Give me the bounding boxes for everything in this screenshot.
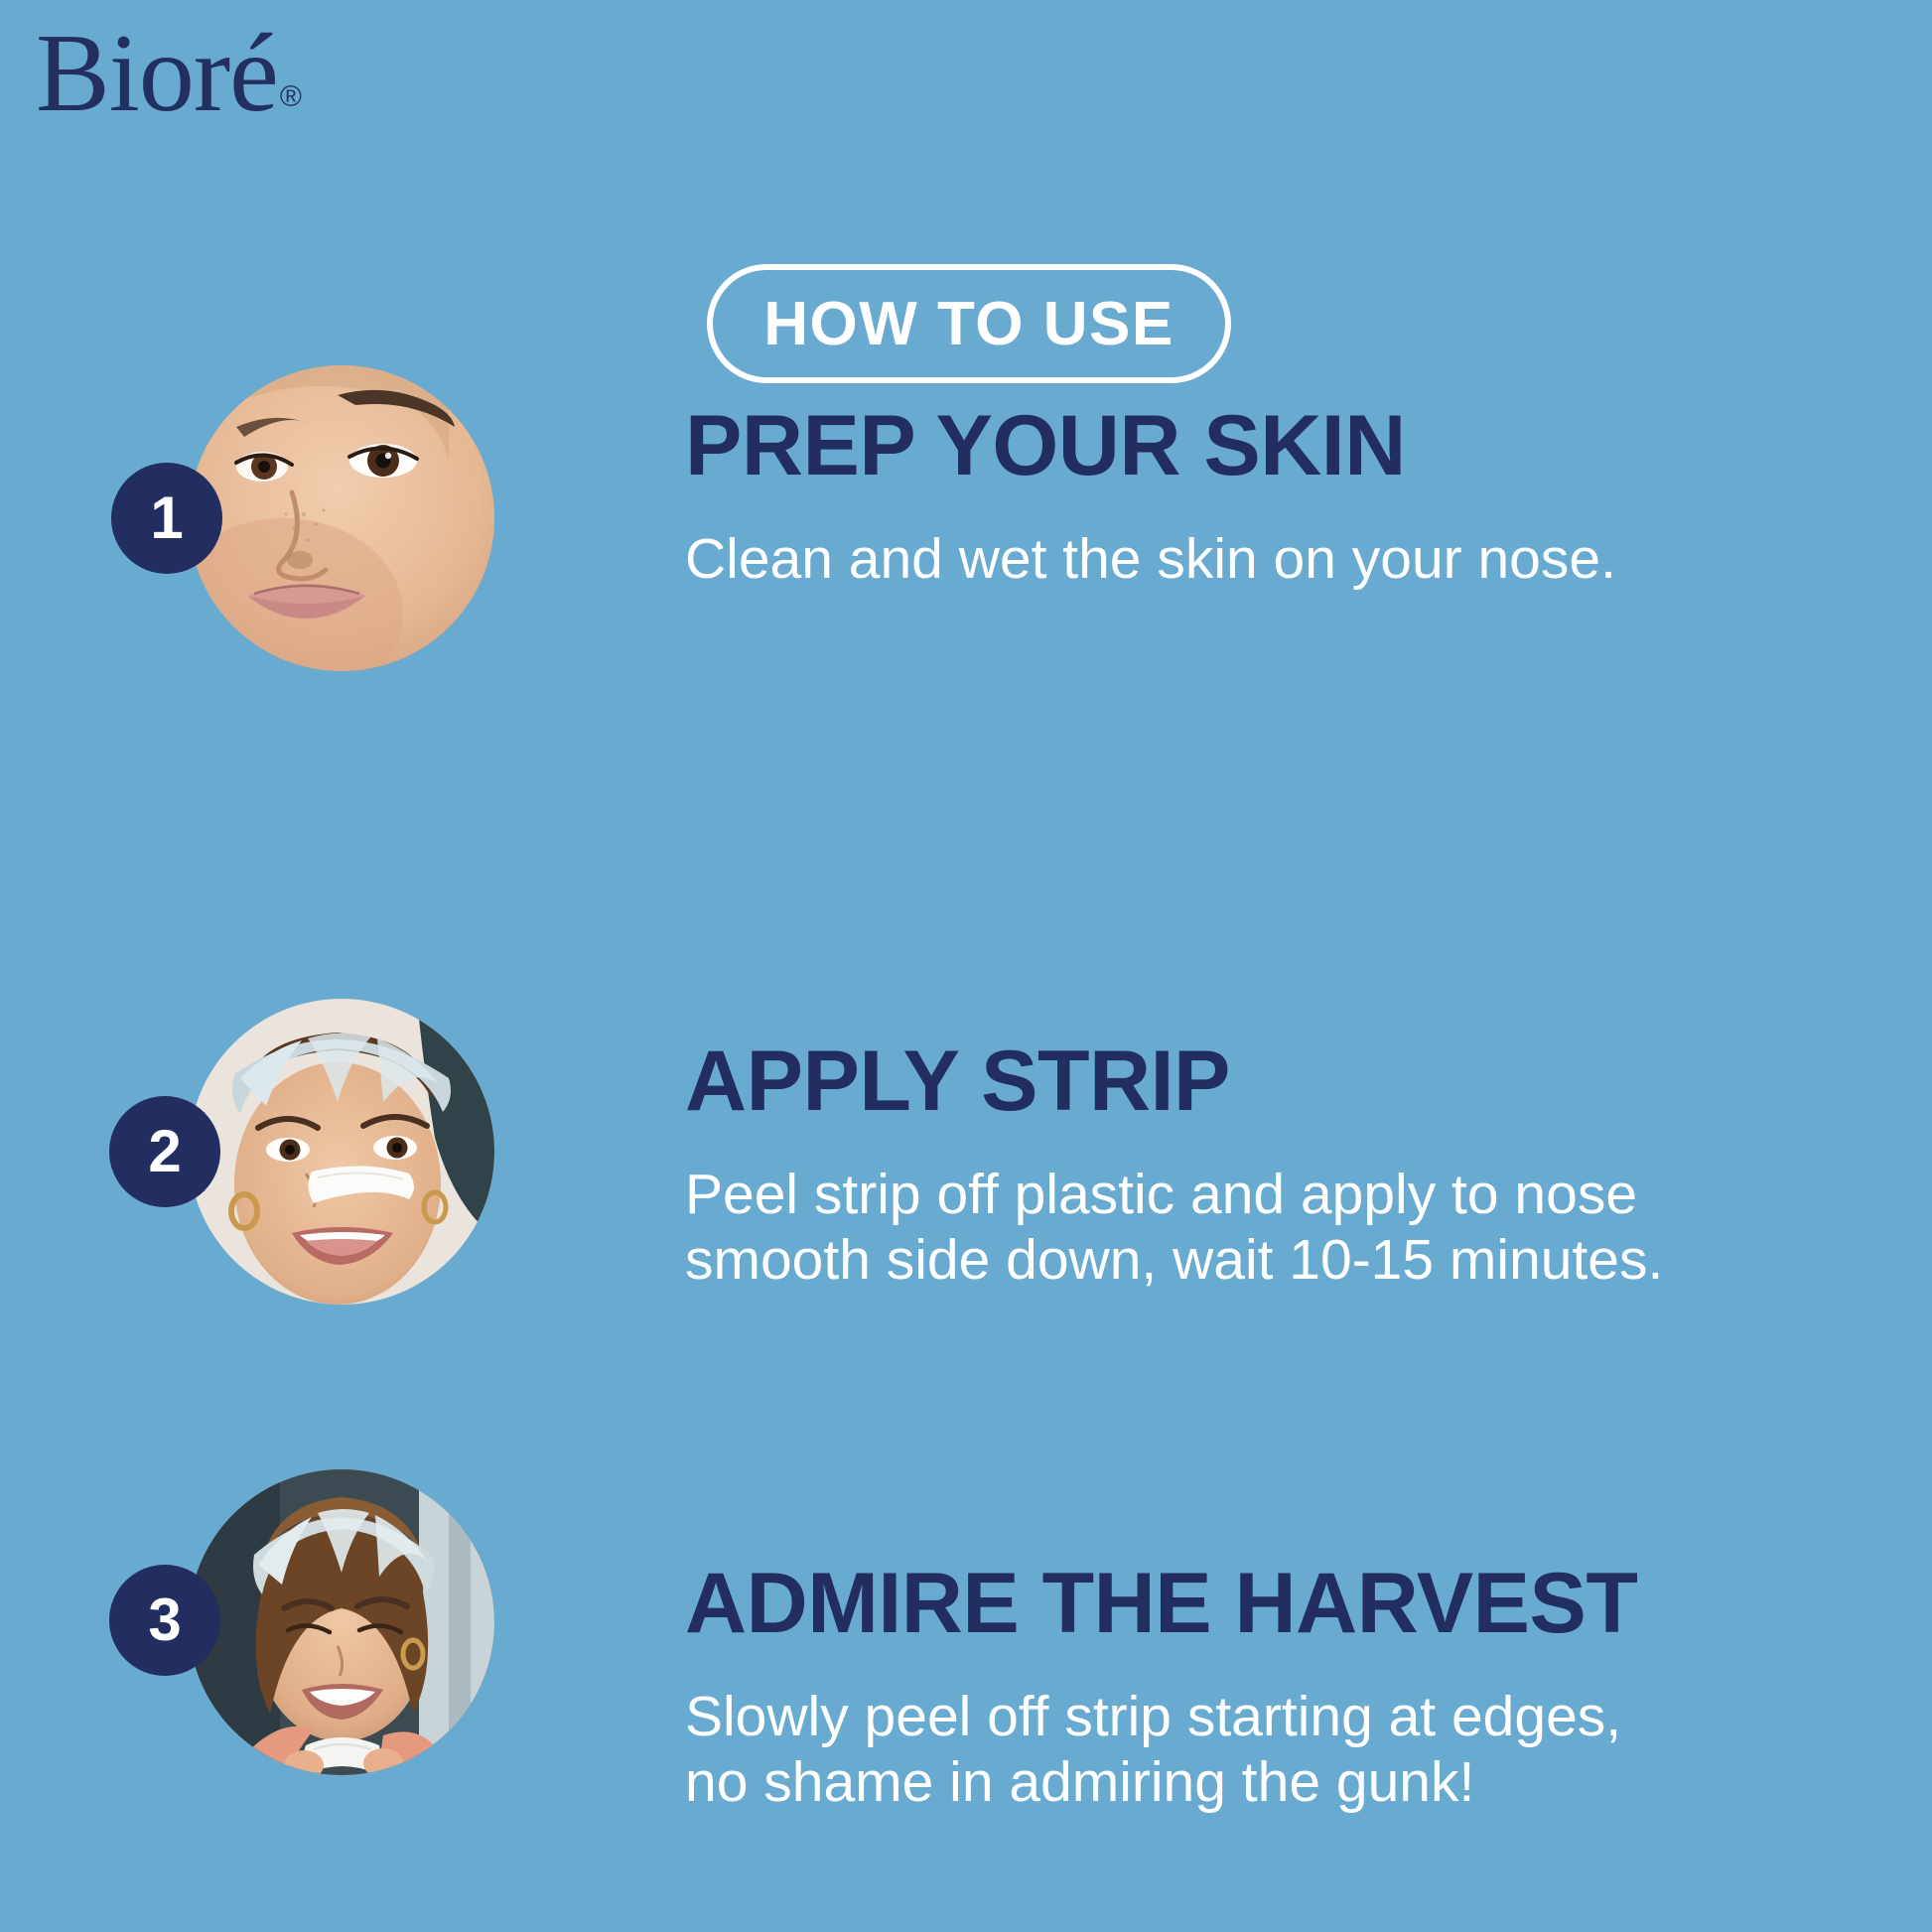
step-1-title: PREP YOUR SKIN [685,403,1857,488]
step-3-photo [189,1469,494,1775]
brand-logo: Bioré® [36,18,299,129]
how-to-use-label: HOW TO USE [763,289,1173,359]
step-number-badge-3: 3 [109,1565,220,1676]
step-1-photo-circle [189,365,494,671]
step-1-text: PREP YOUR SKIN Clean and wet the skin on… [685,403,1857,592]
brand-logo-text: Bioré [36,12,278,135]
step-number-1: 1 [150,488,183,548]
how-to-use-badge: HOW TO USE [707,264,1231,383]
step-number-badge-1: 1 [111,463,222,574]
step-1-body-line-1: Clean and wet the skin on your nose. [685,526,1857,592]
step-2-title: APPLY STRIP [685,1038,1857,1124]
step-number-2: 2 [148,1122,181,1181]
step-2-text: APPLY STRIP Peel strip off plastic and a… [685,1038,1857,1293]
step-number-badge-2: 2 [109,1096,220,1207]
step-3-body-line-1: Slowly peel off strip starting at edges, [685,1684,1857,1749]
step-2-body-line-1: Peel strip off plastic and apply to nose [685,1162,1857,1227]
step-1-body: Clean and wet the skin on your nose. [685,526,1857,592]
step-2-body: Peel strip off plastic and apply to nose… [685,1162,1857,1293]
nose-strip-applied-illustration [189,999,494,1305]
step-3-body: Slowly peel off strip starting at edges,… [685,1684,1857,1815]
face-clean-skin-illustration [189,365,494,671]
step-2-photo-circle [189,999,494,1305]
admiring-used-strip-illustration [189,1469,494,1775]
step-3-text: ADMIRE THE HARVEST Slowly peel off strip… [685,1561,1857,1815]
step-3-body-line-2: no shame in admiring the gunk! [685,1749,1857,1815]
step-3-title: ADMIRE THE HARVEST [685,1561,1857,1646]
step-number-3: 3 [148,1590,181,1650]
step-3-photo-circle [189,1469,494,1775]
step-1-photo [189,365,494,671]
registered-trademark-icon: ® [280,80,301,113]
step-2-body-line-2: smooth side down, wait 10-15 minutes. [685,1227,1857,1293]
step-2-photo [189,999,494,1305]
